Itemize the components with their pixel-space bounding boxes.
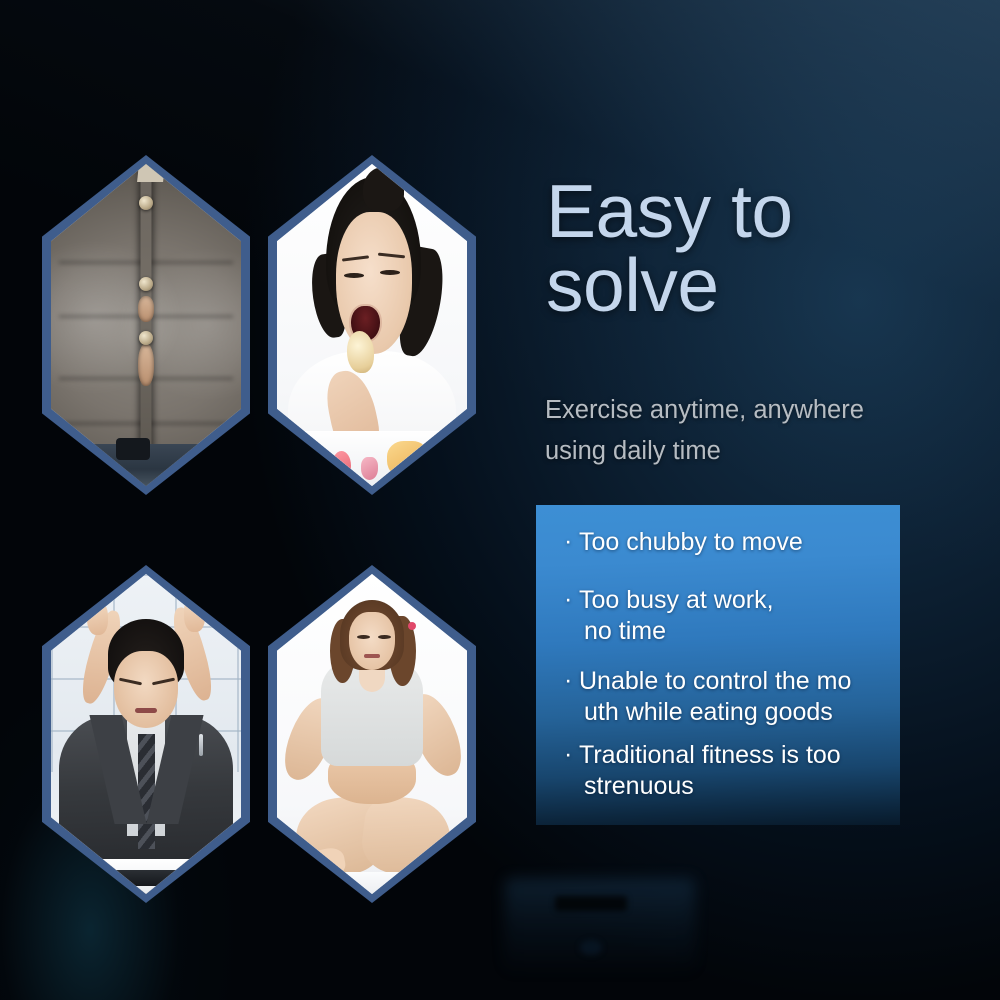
bullet-line-2: uth while eating goods <box>579 697 894 728</box>
snack-bread <box>414 447 444 479</box>
snack-pastry <box>387 441 429 480</box>
subtitle-line-2: using daily time <box>545 431 985 472</box>
bullet-line-1: Too chubby to move <box>579 528 803 556</box>
pocket-pen <box>199 734 203 756</box>
bullet-line-2: no time <box>579 616 894 647</box>
pastry-in-hand <box>347 331 374 373</box>
list-item: Traditional fitness is too strenuous <box>564 740 894 802</box>
photo-frame-inner <box>277 574 467 894</box>
snack-candy-pink <box>361 457 378 480</box>
mouth <box>135 708 158 713</box>
photo-woman-sitting-crosslegged <box>268 565 476 903</box>
pain-points-panel: Too chubby to move Too busy at work, no … <box>536 505 900 825</box>
hair-bun <box>363 167 405 212</box>
mouth <box>364 654 379 658</box>
snack-cream <box>304 454 327 480</box>
list-item: Unable to control the mo uth while eatin… <box>564 666 894 728</box>
floor <box>277 872 467 894</box>
hair-tie <box>408 622 416 630</box>
shirt-gap-lower <box>138 344 154 386</box>
pain-points-list: Too chubby to move Too busy at work, no … <box>564 527 894 802</box>
page-title: Easy to solve <box>546 175 976 322</box>
shirt-button-bottom <box>139 331 153 345</box>
list-item: Too chubby to move <box>564 527 894 558</box>
photo-woman-eating-snacks <box>268 155 476 495</box>
list-item: Too busy at work, no time <box>564 585 894 647</box>
shirt-gap-upper <box>138 296 154 322</box>
photo-tight-shirt-belly <box>42 155 250 495</box>
bullet-line-2: strenuous <box>579 771 894 802</box>
photo-stressed-businessman <box>42 565 250 903</box>
face <box>349 612 395 670</box>
face <box>114 651 179 728</box>
device-silhouette <box>505 878 695 970</box>
hand-left <box>87 600 108 635</box>
bullet-line-1: Unable to control the mo <box>579 667 851 695</box>
eye-right <box>378 635 391 639</box>
eye-left <box>357 635 370 639</box>
shirt-placket <box>141 170 152 479</box>
jeans-waistband <box>51 444 241 486</box>
shirt-button-top <box>139 196 153 210</box>
photo-frame-inner <box>51 574 241 894</box>
snack-candy-red <box>332 451 351 480</box>
headline-line-2: solve <box>546 249 976 323</box>
shirt-collar <box>137 164 165 182</box>
bullet-line-1: Traditional fitness is too <box>579 741 841 769</box>
device-button <box>580 940 602 955</box>
promo-poster: Easy to solve Exercise anytime, anywhere… <box>0 0 1000 1000</box>
shirt-button-middle <box>139 277 153 291</box>
photo-frame-inner <box>277 164 467 486</box>
subtitle-line-1: Exercise anytime, anywhere <box>545 390 985 431</box>
hand-right <box>184 596 205 631</box>
photo-frame-inner <box>51 164 241 486</box>
subtitle: Exercise anytime, anywhere using daily t… <box>545 390 985 473</box>
headline-line-1: Easy to <box>546 175 976 249</box>
device-screen-bar <box>555 896 627 911</box>
foot <box>305 846 347 881</box>
keyboard <box>108 870 188 886</box>
bullet-line-1: Too busy at work, <box>579 586 774 614</box>
